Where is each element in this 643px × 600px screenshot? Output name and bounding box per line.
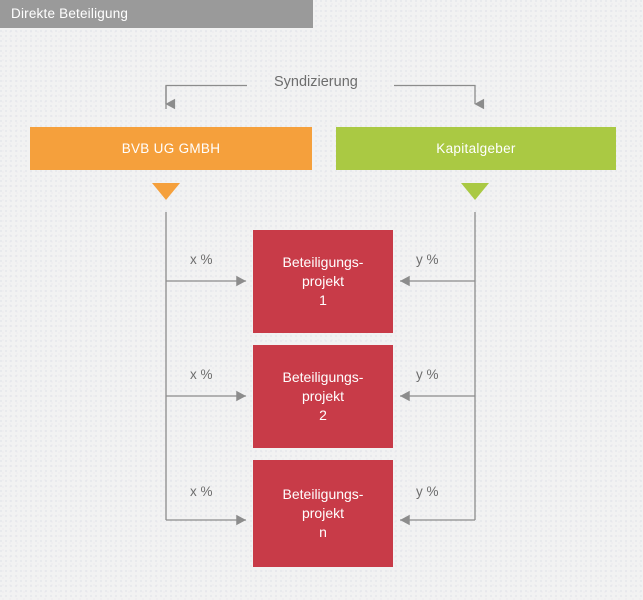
project-box-n-line3: n — [319, 523, 327, 542]
triangle-down-icon-green — [461, 183, 489, 200]
project-box-2-line2: projekt — [302, 387, 344, 406]
project-box-2-line1: Beteiligungs- — [283, 368, 364, 387]
project-box-1-line1: Beteiligungs- — [283, 253, 364, 272]
share-label-right-n: y % — [416, 484, 439, 499]
project-box-1[interactable]: Beteiligungs- projekt 1 — [253, 230, 393, 333]
project-box-n[interactable]: Beteiligungs- projekt n — [253, 460, 393, 567]
project-box-n-line2: projekt — [302, 504, 344, 523]
share-label-left-n: x % — [190, 484, 213, 499]
share-label-left-2: x % — [190, 367, 213, 382]
syndication-label: Syndizierung — [274, 74, 358, 90]
party-box-kapitalgeber[interactable]: Kapitalgeber — [336, 127, 616, 170]
share-label-right-2: y % — [416, 367, 439, 382]
project-box-2[interactable]: Beteiligungs- projekt 2 — [253, 345, 393, 448]
page-title: Direkte Beteiligung — [11, 6, 128, 21]
party-label-bvb: BVB UG GMBH — [122, 141, 221, 156]
project-box-1-line2: projekt — [302, 272, 344, 291]
triangle-down-icon-orange — [152, 183, 180, 200]
project-box-1-line3: 1 — [319, 291, 327, 310]
share-label-left-1: x % — [190, 252, 213, 267]
diagram-canvas: Direkte Beteiligung Syndizierung — [0, 0, 643, 600]
party-box-bvb[interactable]: BVB UG GMBH — [30, 127, 312, 170]
project-box-n-line1: Beteiligungs- — [283, 485, 364, 504]
party-label-kapitalgeber: Kapitalgeber — [436, 141, 515, 156]
project-box-2-line3: 2 — [319, 406, 327, 425]
share-label-right-1: y % — [416, 252, 439, 267]
